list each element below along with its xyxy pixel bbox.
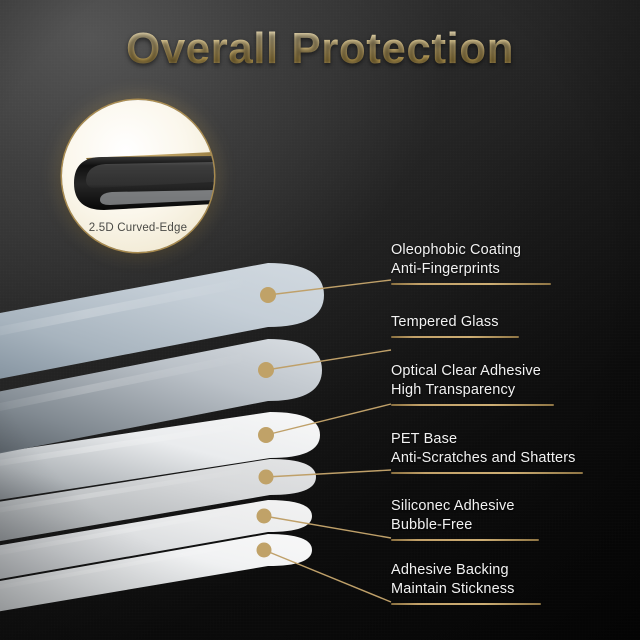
curved-edge-inset: 2.5D Curved-Edge bbox=[62, 100, 214, 252]
inset-label: 2.5D Curved-Edge bbox=[62, 222, 214, 234]
callout-pet-base: PET Base Anti-Scratches and Shatters bbox=[391, 430, 583, 474]
callout-line-1: Tempered Glass bbox=[391, 313, 519, 332]
callout-line-2: Bubble-Free bbox=[391, 516, 539, 535]
product-infographic: Overall Protection bbox=[0, 0, 640, 640]
callout-line-2: Anti-Scratches and Shatters bbox=[391, 449, 583, 468]
callout-underline bbox=[391, 283, 551, 285]
callout-line-2: Maintain Stickness bbox=[391, 580, 541, 599]
callout-line-1: Adhesive Backing bbox=[391, 561, 541, 580]
callout-adhesive-backing: Adhesive Backing Maintain Stickness bbox=[391, 561, 541, 605]
callout-optical-clear-adhesive: Optical Clear Adhesive High Transparency bbox=[391, 362, 554, 406]
callout-underline bbox=[391, 404, 554, 406]
callout-line-1: Optical Clear Adhesive bbox=[391, 362, 554, 381]
callout-underline bbox=[391, 336, 519, 338]
background-gradient bbox=[0, 0, 640, 640]
callout-underline bbox=[391, 603, 541, 605]
callout-tempered-glass: Tempered Glass bbox=[391, 313, 519, 338]
callout-underline bbox=[391, 472, 583, 474]
callout-underline bbox=[391, 539, 539, 541]
page-title: Overall Protection bbox=[0, 24, 640, 74]
callout-line-1: Siliconec Adhesive bbox=[391, 497, 539, 516]
callout-line-1: PET Base bbox=[391, 430, 583, 449]
callout-line-1: Oleophobic Coating bbox=[391, 241, 551, 260]
callout-siliconec-adhesive: Siliconec Adhesive Bubble-Free bbox=[391, 497, 539, 541]
callout-line-2: Anti-Fingerprints bbox=[391, 260, 551, 279]
callout-line-2: High Transparency bbox=[391, 381, 554, 400]
callout-oleophobic-coating: Oleophobic Coating Anti-Fingerprints bbox=[391, 241, 551, 285]
